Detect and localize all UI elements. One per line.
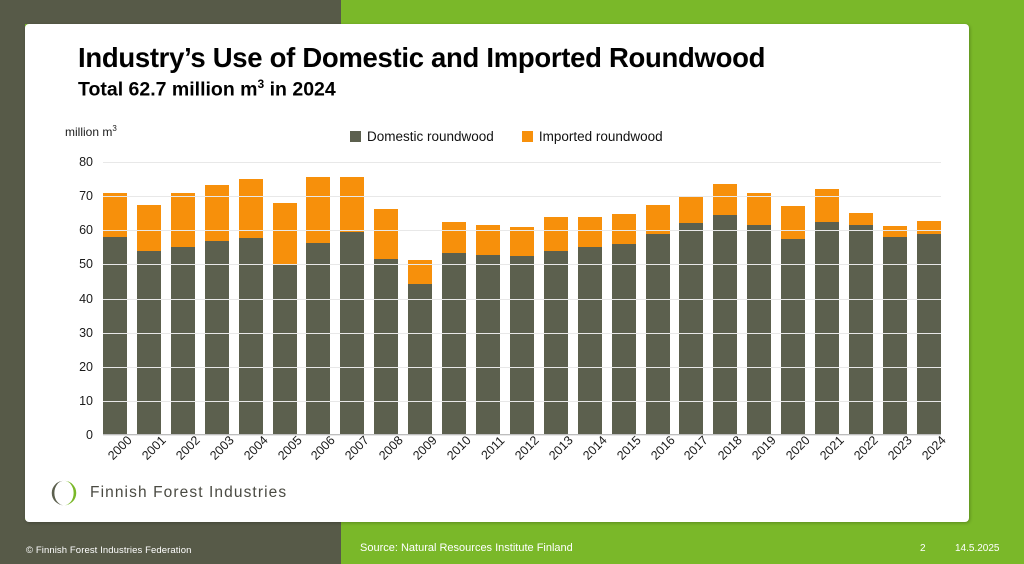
x-axis-label-wrap: 2006 <box>306 439 330 489</box>
x-axis-tick-label: 2023 <box>885 433 915 463</box>
legend-item: Domestic roundwood <box>350 129 494 144</box>
bar-column[interactable] <box>171 193 195 435</box>
bar-column[interactable] <box>239 179 263 435</box>
gridline <box>103 162 941 163</box>
x-axis-tick-label: 2012 <box>512 433 542 463</box>
x-axis-tick-label: 2019 <box>749 433 779 463</box>
bar-segment-domestic <box>239 238 263 435</box>
y-axis-tick-label: 50 <box>63 257 103 271</box>
gridline <box>103 230 941 231</box>
x-axis-label-wrap: 2007 <box>340 439 364 489</box>
x-axis-tick-label: 2002 <box>173 433 203 463</box>
bar-segment-imported <box>171 193 195 247</box>
brand-logo-text: Finnish Forest Industries <box>90 484 287 502</box>
bar-column[interactable] <box>578 217 602 435</box>
legend-label: Domestic roundwood <box>367 129 494 144</box>
y-axis-tick-label: 10 <box>63 394 103 408</box>
x-axis-label-wrap: 2014 <box>578 439 602 489</box>
bar-column[interactable] <box>747 193 771 435</box>
gridline <box>103 367 941 368</box>
y-axis-tick-label: 80 <box>63 155 103 169</box>
x-axis-label-wrap: 2010 <box>442 439 466 489</box>
bar-segment-imported <box>578 217 602 247</box>
x-axis-label-wrap: 2024 <box>917 439 941 489</box>
x-axis-tick-label: 2015 <box>614 433 644 463</box>
legend-swatch-domestic <box>350 131 361 142</box>
bar-column[interactable] <box>544 217 568 435</box>
bar-segment-domestic <box>442 253 466 435</box>
bar-segment-imported <box>815 189 839 222</box>
x-axis-tick-label: 2004 <box>241 433 271 463</box>
bar-segment-imported <box>374 209 398 259</box>
x-axis-label-wrap: 2015 <box>612 439 636 489</box>
bar-segment-imported <box>340 177 364 232</box>
bar-column[interactable] <box>883 226 907 435</box>
bar-segment-domestic <box>815 222 839 435</box>
leaf-circle-icon <box>50 479 78 507</box>
y-axis-tick-label: 30 <box>63 326 103 340</box>
bar-segment-domestic <box>171 247 195 435</box>
gridline <box>103 196 941 197</box>
page-number: 2 <box>920 543 926 554</box>
unit-superscript: 3 <box>112 124 116 133</box>
y-axis-tick-label: 40 <box>63 292 103 306</box>
bar-segment-domestic <box>849 225 873 435</box>
y-axis-tick-label: 60 <box>63 223 103 237</box>
x-axis-label-wrap: 2012 <box>510 439 534 489</box>
bar-column[interactable] <box>612 214 636 435</box>
bar-segment-imported <box>679 197 703 223</box>
unit-text: million m <box>65 125 112 139</box>
bar-segment-imported <box>917 221 941 234</box>
bar-segment-domestic <box>306 243 330 435</box>
x-axis-tick-label: 2016 <box>648 433 678 463</box>
x-axis-label-wrap: 2023 <box>883 439 907 489</box>
bar-segment-domestic <box>476 255 500 435</box>
slide-root: © Finnish Forest Industries Federation S… <box>0 0 1024 564</box>
legend-label: Imported roundwood <box>539 129 663 144</box>
x-axis-tick-label: 2008 <box>376 433 406 463</box>
source-text: Source: Natural Resources Institute Finl… <box>360 542 573 554</box>
bar-column[interactable] <box>476 225 500 435</box>
bar-column[interactable] <box>306 177 330 435</box>
x-axis-label-wrap: 2020 <box>781 439 805 489</box>
bar-segment-domestic <box>713 215 737 435</box>
bar-column[interactable] <box>442 222 466 435</box>
y-axis-tick-label: 20 <box>63 360 103 374</box>
bar-segment-imported <box>442 222 466 254</box>
x-axis-tick-label: 2009 <box>410 433 440 463</box>
chart-legend: Domestic roundwoodImported roundwood <box>350 129 663 144</box>
bar-segment-imported <box>273 203 297 264</box>
bar-segment-domestic <box>273 264 297 435</box>
x-axis-label-wrap: 2017 <box>679 439 703 489</box>
gridline <box>103 264 941 265</box>
subtitle-post: in 2024 <box>264 79 336 101</box>
legend-swatch-imported <box>522 131 533 142</box>
bar-column[interactable] <box>917 221 941 435</box>
x-axis-label-wrap: 2018 <box>713 439 737 489</box>
y-axis-tick-label: 70 <box>63 189 103 203</box>
bar-segment-imported <box>781 206 805 239</box>
date-text: 14.5.2025 <box>955 543 1000 554</box>
bar-segment-domestic <box>679 223 703 435</box>
x-axis-label-wrap: 2009 <box>408 439 432 489</box>
bar-column[interactable] <box>205 185 229 435</box>
decor-band-top-left <box>0 0 341 24</box>
y-axis-tick-label: 0 <box>63 428 103 442</box>
x-axis-tick-label: 2000 <box>105 433 135 463</box>
x-axis-label-wrap: 2022 <box>849 439 873 489</box>
x-axis-tick-label: 2006 <box>309 433 339 463</box>
bar-segment-domestic <box>781 239 805 435</box>
bar-segment-domestic <box>747 225 771 435</box>
bar-segment-domestic <box>578 247 602 435</box>
copyright-text: © Finnish Forest Industries Federation <box>26 545 192 556</box>
x-axis-tick-label: 2020 <box>783 433 813 463</box>
x-axis-tick-label: 2007 <box>343 433 373 463</box>
bar-segment-imported <box>137 205 161 251</box>
content-card: Industry’s Use of Domestic and Imported … <box>25 24 969 522</box>
subtitle-pre: Total 62.7 million m <box>78 79 258 101</box>
bar-segment-domestic <box>883 237 907 435</box>
x-axis-tick-label: 2022 <box>851 433 881 463</box>
page-subtitle: Total 62.7 million m3 in 2024 <box>78 77 336 102</box>
x-axis-tick-label: 2010 <box>444 433 474 463</box>
x-axis-tick-label: 2003 <box>207 433 237 463</box>
bar-segment-domestic <box>510 256 534 435</box>
bar-column[interactable] <box>510 227 534 435</box>
x-axis-tick-label: 2011 <box>478 433 507 462</box>
x-axis-tick-label: 2017 <box>682 433 712 463</box>
x-axis-label-wrap: 2019 <box>747 439 771 489</box>
legend-item: Imported roundwood <box>522 129 663 144</box>
bar-segment-domestic <box>374 259 398 435</box>
x-axis-label-wrap: 2021 <box>815 439 839 489</box>
bar-segment-domestic <box>408 284 432 435</box>
decor-band-left <box>0 0 25 564</box>
x-axis-label-wrap: 2011 <box>476 439 500 489</box>
gridline <box>103 401 941 402</box>
brand-logo: Finnish Forest Industries <box>50 479 287 507</box>
gridline <box>103 333 941 334</box>
bar-segment-imported <box>205 185 229 241</box>
decor-band-bottom <box>0 520 341 564</box>
x-axis-label-wrap: 2008 <box>374 439 398 489</box>
x-axis-tick-label: 2018 <box>715 433 745 463</box>
bar-segment-imported <box>544 217 568 251</box>
page-title: Industry’s Use of Domestic and Imported … <box>78 42 765 74</box>
bar-segment-domestic <box>103 237 127 435</box>
gridline <box>103 299 941 300</box>
bar-column[interactable] <box>713 184 737 435</box>
bar-segment-imported <box>747 193 771 226</box>
x-axis-label-wrap: 2016 <box>646 439 670 489</box>
x-axis-tick-label: 2013 <box>546 433 576 463</box>
bar-column[interactable] <box>679 197 703 435</box>
bar-segment-domestic <box>205 241 229 436</box>
bar-segment-domestic <box>137 251 161 435</box>
x-axis-tick-label: 2021 <box>817 433 847 463</box>
x-axis-tick-label: 2024 <box>919 433 949 463</box>
x-axis-tick-label: 2005 <box>275 433 305 463</box>
bar-segment-imported <box>306 177 330 242</box>
bar-column[interactable] <box>815 189 839 435</box>
bar-segment-domestic <box>544 251 568 435</box>
bar-segment-imported <box>883 226 907 238</box>
x-axis-label-wrap: 2013 <box>544 439 568 489</box>
chart-plot-area: 01020304050607080 <box>103 162 941 435</box>
bar-segment-imported <box>713 184 737 215</box>
bar-segment-imported <box>849 213 873 226</box>
bar-column[interactable] <box>408 260 432 435</box>
bar-column[interactable] <box>340 177 364 435</box>
y-axis-unit-label: million m3 <box>65 124 117 139</box>
bar-segment-imported <box>612 214 636 244</box>
x-axis-tick-label: 2001 <box>139 433 169 463</box>
bar-segment-domestic <box>612 244 636 435</box>
x-axis-tick-label: 2014 <box>580 433 610 463</box>
